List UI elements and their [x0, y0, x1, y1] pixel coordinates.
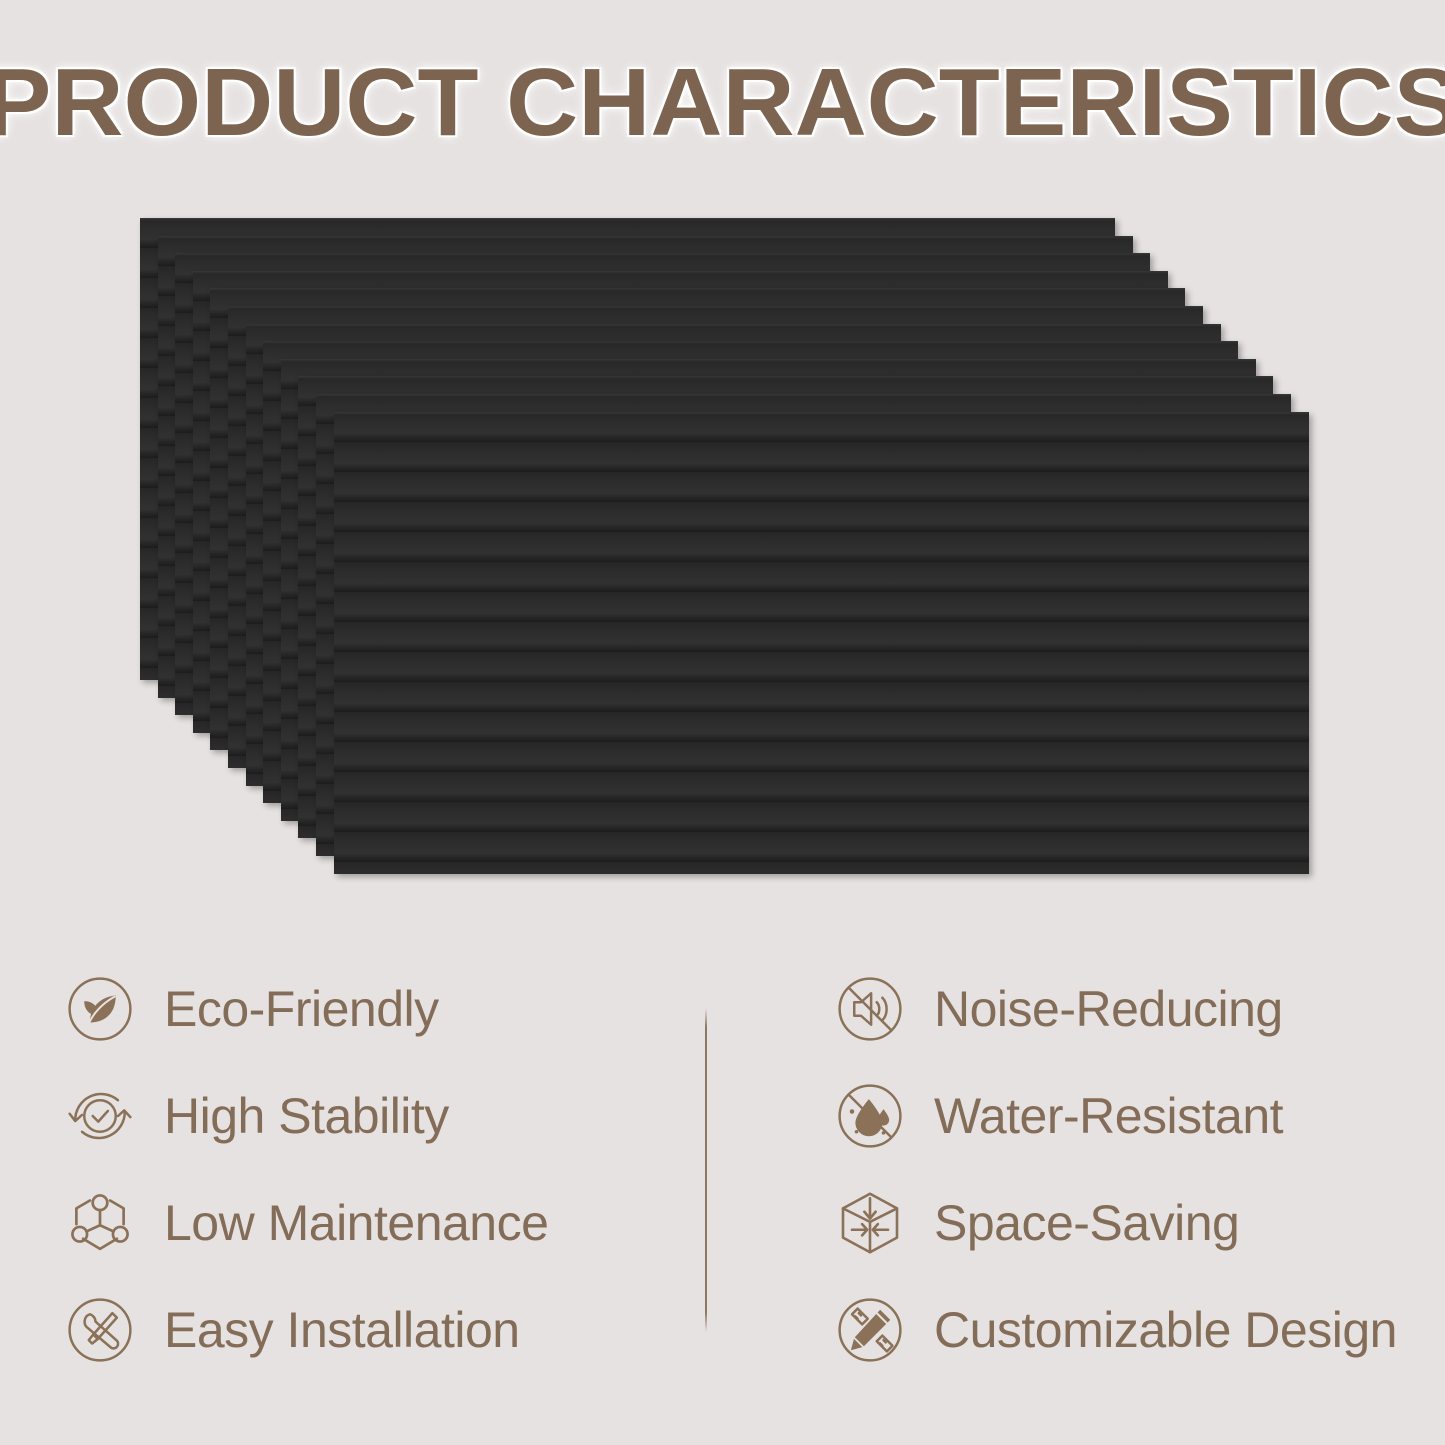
page-title: PRODUCT CHARACTERISTICS: [0, 52, 1445, 154]
tools-icon: [62, 1292, 138, 1368]
stability-cycle-check-icon: [62, 1078, 138, 1154]
feature-item-high-stability[interactable]: High Stability: [62, 1062, 702, 1169]
feature-item-customizable-design[interactable]: Customizable Design: [832, 1276, 1445, 1383]
feature-item-easy-installation[interactable]: Easy Installation: [62, 1276, 702, 1383]
feature-item-low-maintenance[interactable]: Low Maintenance: [62, 1169, 702, 1276]
feature-item-water-resistant[interactable]: Water-Resistant: [832, 1062, 1445, 1169]
feature-label: Noise-Reducing: [934, 981, 1283, 1037]
feature-item-noise-reducing[interactable]: Noise-Reducing: [832, 955, 1445, 1062]
feature-label: Customizable Design: [934, 1302, 1397, 1358]
compress-cube-icon: [832, 1185, 908, 1261]
feature-label: Easy Installation: [164, 1302, 520, 1358]
feature-label: High Stability: [164, 1088, 449, 1144]
feature-label: Space-Saving: [934, 1195, 1239, 1251]
column-divider: [705, 1008, 707, 1332]
feature-item-eco-friendly[interactable]: Eco-Friendly: [62, 955, 702, 1062]
feature-list: Eco-Friendly High Stability: [0, 955, 1445, 1385]
feature-column-left: Eco-Friendly High Stability: [62, 955, 702, 1383]
feature-item-space-saving[interactable]: Space-Saving: [832, 1169, 1445, 1276]
pencil-ruler-icon: [832, 1292, 908, 1368]
feature-label: Water-Resistant: [934, 1088, 1283, 1144]
feature-column-right: Noise-Reducing Water-Resistant: [832, 955, 1445, 1383]
product-image-panel-stack: [140, 218, 1320, 898]
leaf-icon: [62, 971, 138, 1047]
feature-label: Eco-Friendly: [164, 981, 439, 1037]
muted-speaker-icon: [832, 971, 908, 1047]
feature-label: Low Maintenance: [164, 1195, 548, 1251]
product-panel: [334, 412, 1309, 874]
molecule-icon: [62, 1185, 138, 1261]
no-water-drop-icon: [832, 1078, 908, 1154]
